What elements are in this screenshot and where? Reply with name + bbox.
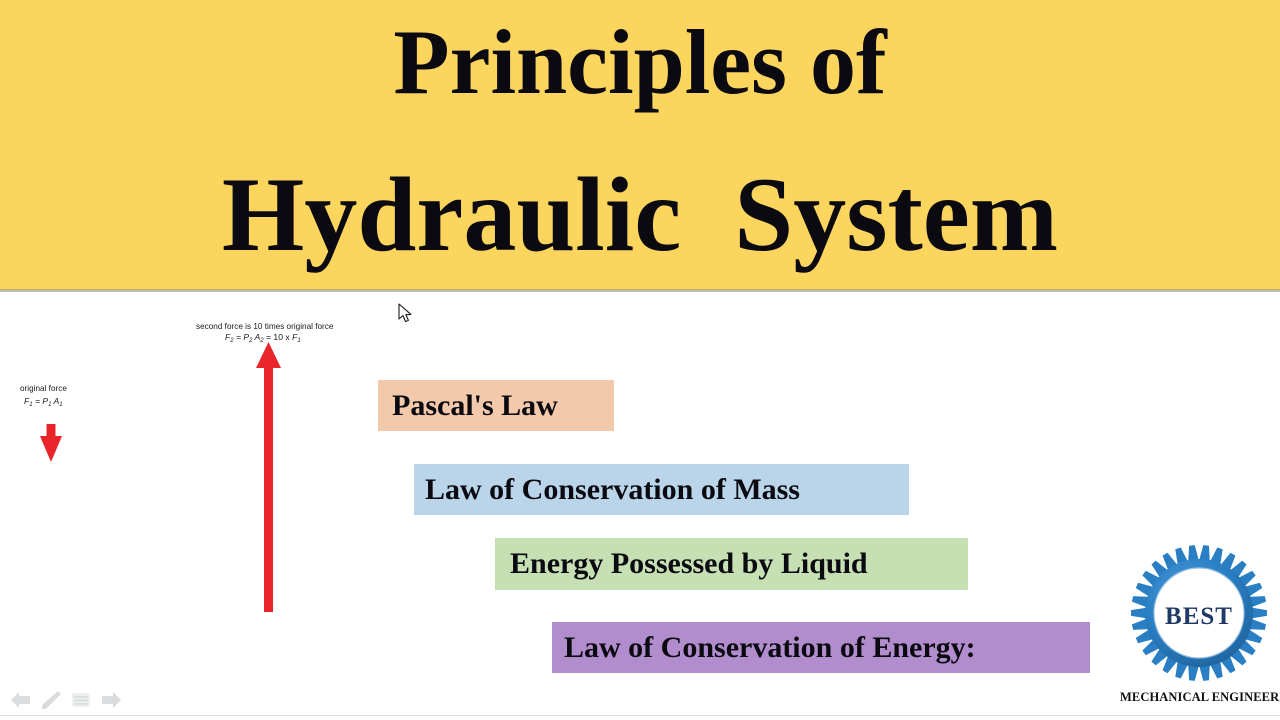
force-arrow-down (40, 424, 62, 462)
forward-arrow-icon[interactable] (98, 688, 124, 712)
principle-energy-possessed-by-liquid[interactable]: Energy Possessed by Liquid (495, 538, 968, 590)
page-title-line-2: Hydraulic System (0, 162, 1280, 268)
mouse-cursor (398, 303, 414, 325)
title-banner-divider (0, 289, 1280, 292)
back-arrow-icon[interactable] (8, 688, 34, 712)
label-original-force-line1: original force (20, 384, 67, 393)
hydraulic-lift-diagram: second force is 10 times original force … (0, 312, 380, 612)
list-lines-icon[interactable] (68, 688, 94, 712)
label-second-force-line1: second force is 10 times original force (196, 322, 334, 331)
force-arrow-up (256, 342, 281, 612)
page-title-line-1: Principles of (0, 16, 1280, 108)
label-original-force-line2: F1 = P1 A1 (24, 396, 63, 408)
toolbar-divider (0, 715, 1280, 716)
principle-conservation-of-mass[interactable]: Law of Conservation of Mass (414, 464, 909, 515)
pen-icon[interactable] (38, 688, 64, 712)
logo-word-best: BEST (1124, 603, 1274, 631)
label-second-force-line2: F2 = P2 A2 = 10 x F1 (225, 332, 301, 344)
principle-pascals-law[interactable]: Pascal's Law (378, 380, 614, 431)
slide-canvas: Principles of Hydraulic System (0, 0, 1280, 720)
principle-conservation-of-energy[interactable]: Law of Conservation of Energy: (552, 622, 1090, 673)
presentation-toolbar[interactable] (0, 688, 1280, 720)
title-banner: Principles of Hydraulic System (0, 0, 1280, 290)
